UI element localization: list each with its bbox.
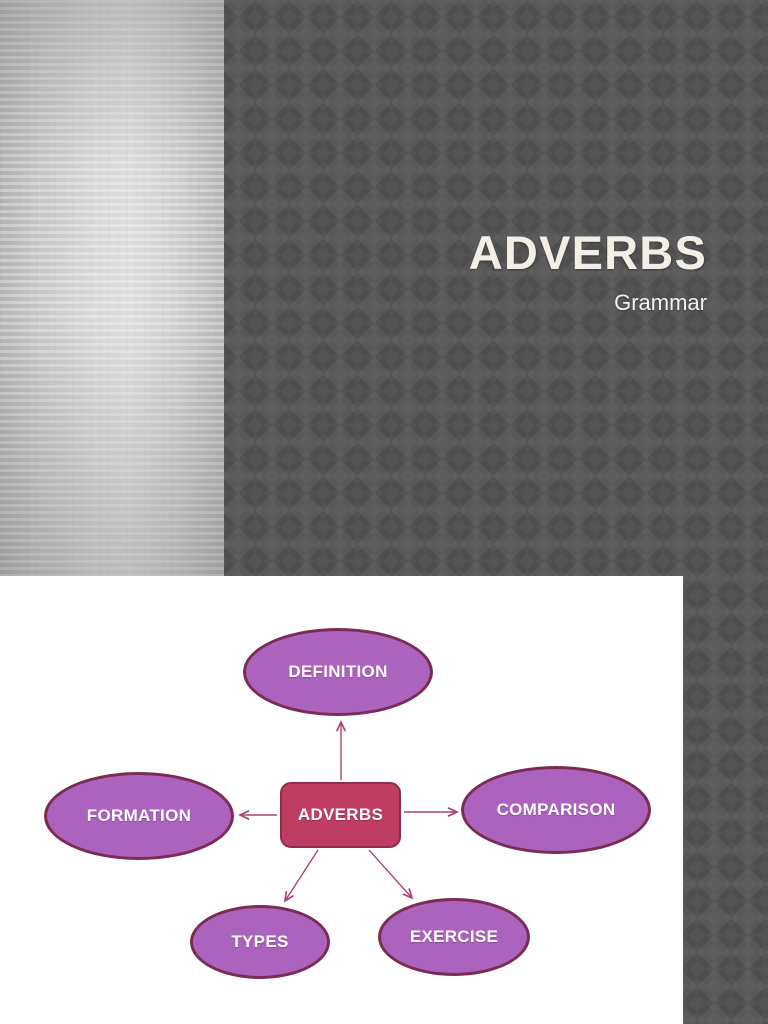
diagram-node-comparison[interactable]: COMPARISON: [461, 766, 651, 854]
diagram-node-adverbs-label: ADVERBS: [287, 805, 395, 826]
page-title: ADVERBS: [187, 228, 707, 277]
diagram-node-adverbs-center[interactable]: ADVERBS: [280, 782, 401, 848]
diagram-node-comparison-label: COMPARISON: [471, 800, 640, 821]
diagram-node-formation-label: FORMATION: [54, 806, 223, 827]
diagram-node-types[interactable]: TYPES: [190, 905, 330, 979]
presentation-slide: ADVERBS Grammar: [0, 0, 768, 1024]
adverbs-mind-map: DEFINITION FORMATION COMPARISON TYPES EX…: [0, 576, 683, 1024]
diagram-node-exercise[interactable]: EXERCISE: [378, 898, 530, 976]
content-panel: DEFINITION FORMATION COMPARISON TYPES EX…: [0, 576, 683, 1024]
diagram-node-types-label: TYPES: [198, 932, 321, 953]
diagram-node-formation[interactable]: FORMATION: [44, 772, 234, 860]
connector-center-to-exercise: [369, 850, 412, 898]
page-subtitle: Grammar: [187, 291, 707, 315]
diagram-node-definition[interactable]: DEFINITION: [243, 628, 433, 716]
diagram-node-exercise-label: EXERCISE: [387, 927, 521, 948]
diagram-node-definition-label: DEFINITION: [253, 662, 422, 683]
title-block: ADVERBS Grammar: [187, 228, 707, 316]
connector-center-to-types: [285, 850, 318, 901]
